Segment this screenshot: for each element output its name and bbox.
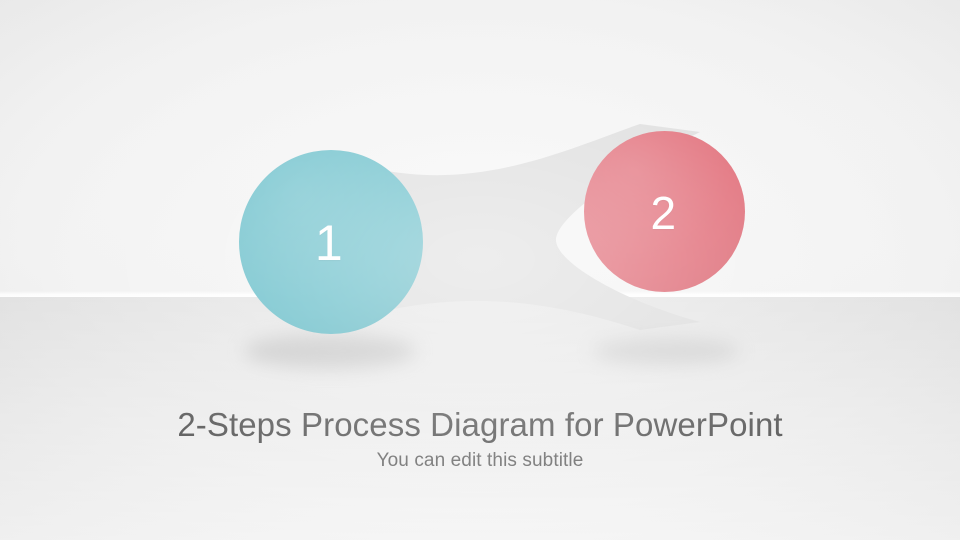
- slide-subtitle[interactable]: You can edit this subtitle: [0, 450, 960, 472]
- step-2-shadow: [592, 338, 740, 364]
- step-2-circle[interactable]: 2: [584, 131, 745, 292]
- step-1-shadow: [244, 334, 416, 368]
- slide-canvas: 1 2 2-Steps Process Diagram for PowerPoi…: [0, 0, 960, 540]
- step-1-number: 1: [315, 218, 343, 268]
- step-2-number: 2: [650, 190, 676, 236]
- slide-title[interactable]: 2-Steps Process Diagram for PowerPoint: [0, 406, 960, 444]
- step-1-circle[interactable]: 1: [239, 150, 423, 334]
